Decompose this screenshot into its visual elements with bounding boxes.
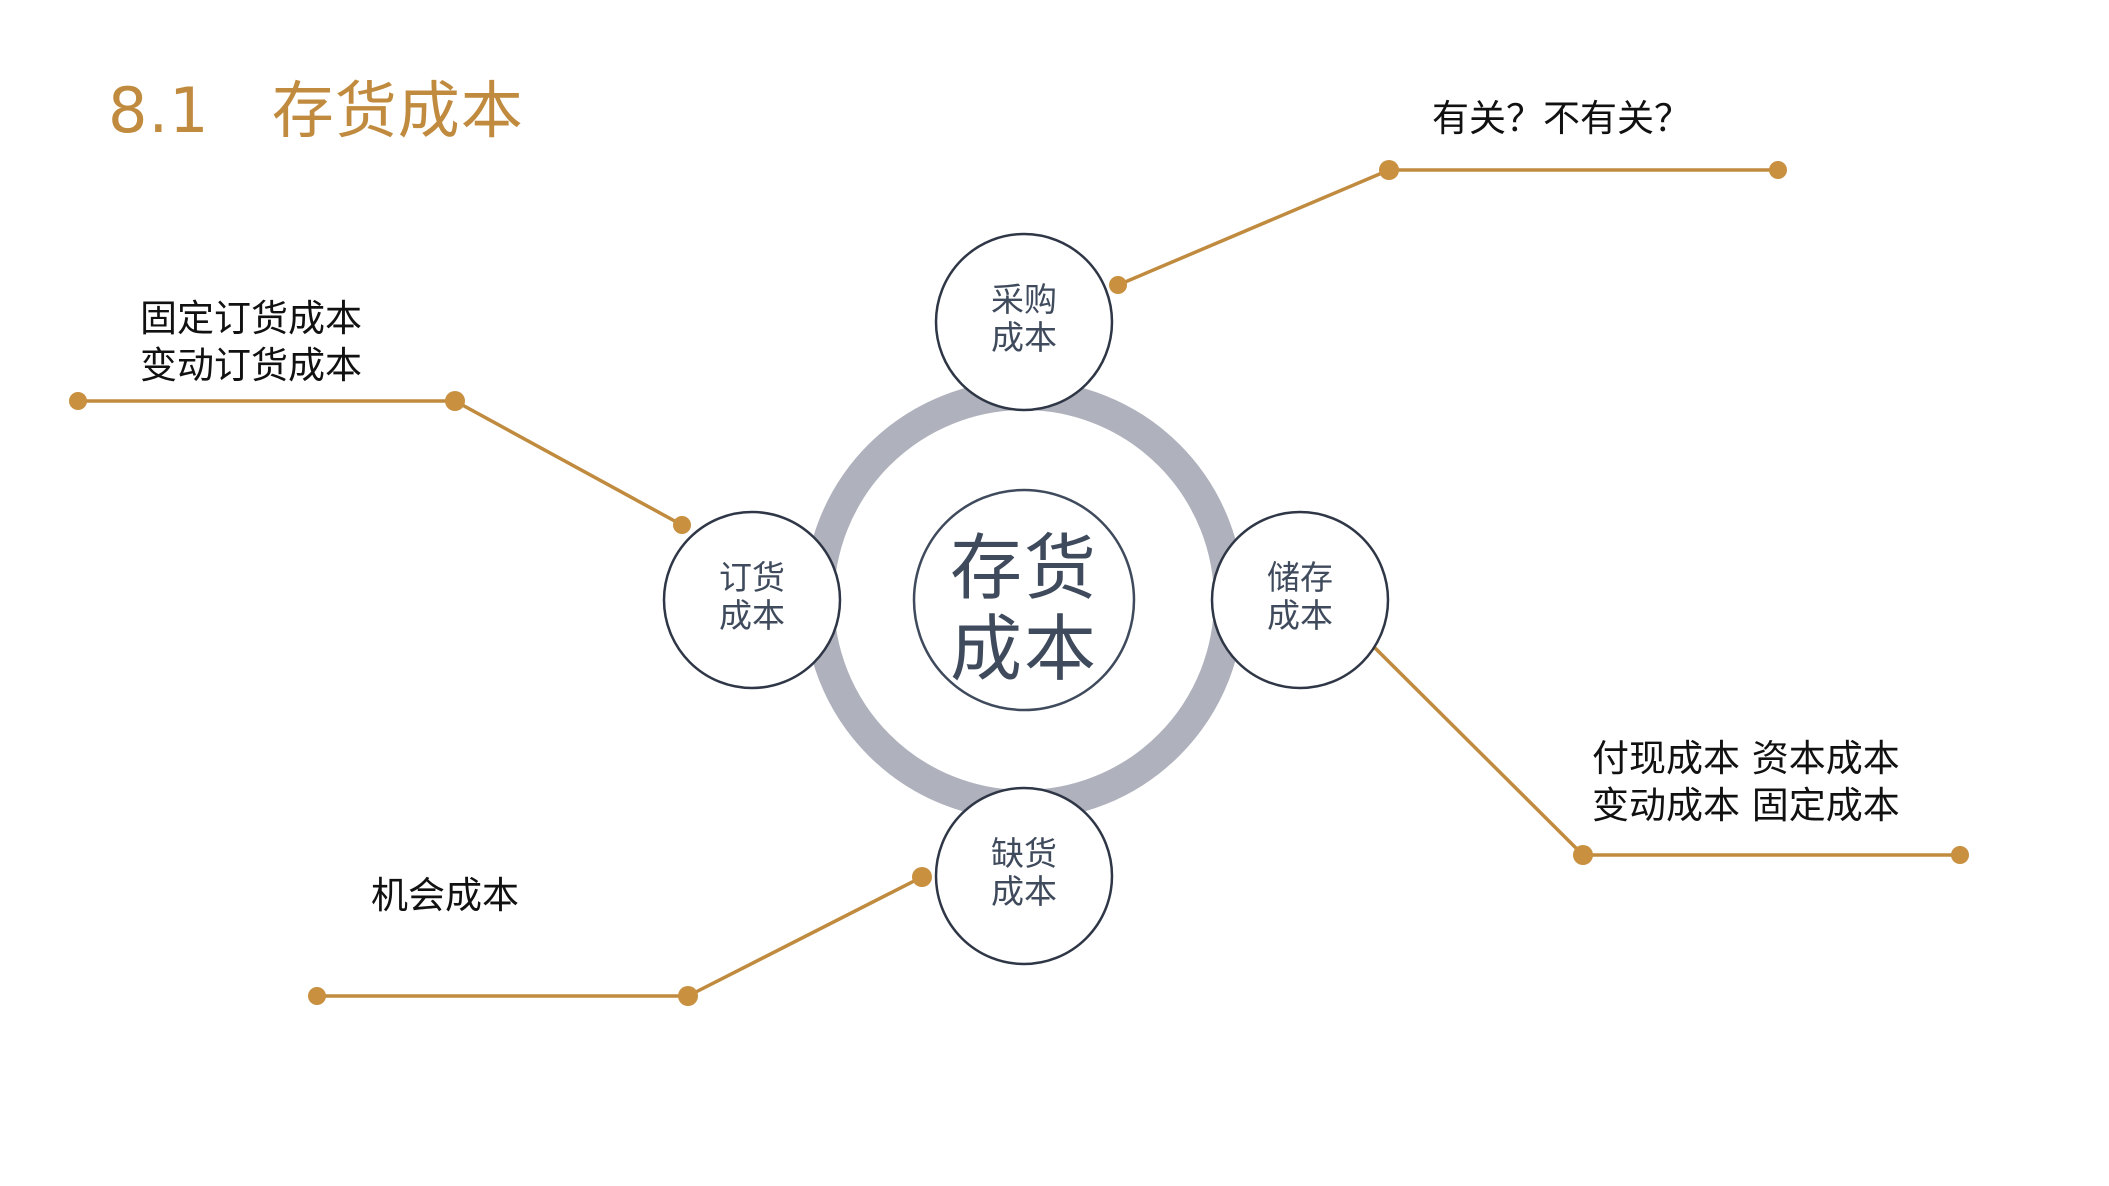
callout-carrying-cost: 付现成本 资本成本 变动成本 固定成本 <box>1592 735 1900 830</box>
inventory-cost-diagram <box>0 0 2109 1186</box>
callout-shortage-cost: 机会成本 <box>371 872 519 919</box>
connector-ordering-cost <box>69 391 691 534</box>
satellite-circle-purchase-cost[interactable] <box>936 234 1112 410</box>
satellite-circle-carrying-cost[interactable] <box>1212 512 1388 688</box>
callout-purchase-cost: 有关？不有关？ <box>1432 95 1691 142</box>
callout-ordering-cost: 固定订货成本 变动订货成本 <box>140 295 362 390</box>
satellite-circle-shortage-cost[interactable] <box>936 788 1112 964</box>
connector-purchase-cost <box>1109 160 1787 294</box>
slide-canvas: 8.1 存货成本 <box>0 0 2109 1186</box>
satellite-circle-ordering-cost[interactable] <box>664 512 840 688</box>
center-node-circle[interactable] <box>914 490 1134 710</box>
